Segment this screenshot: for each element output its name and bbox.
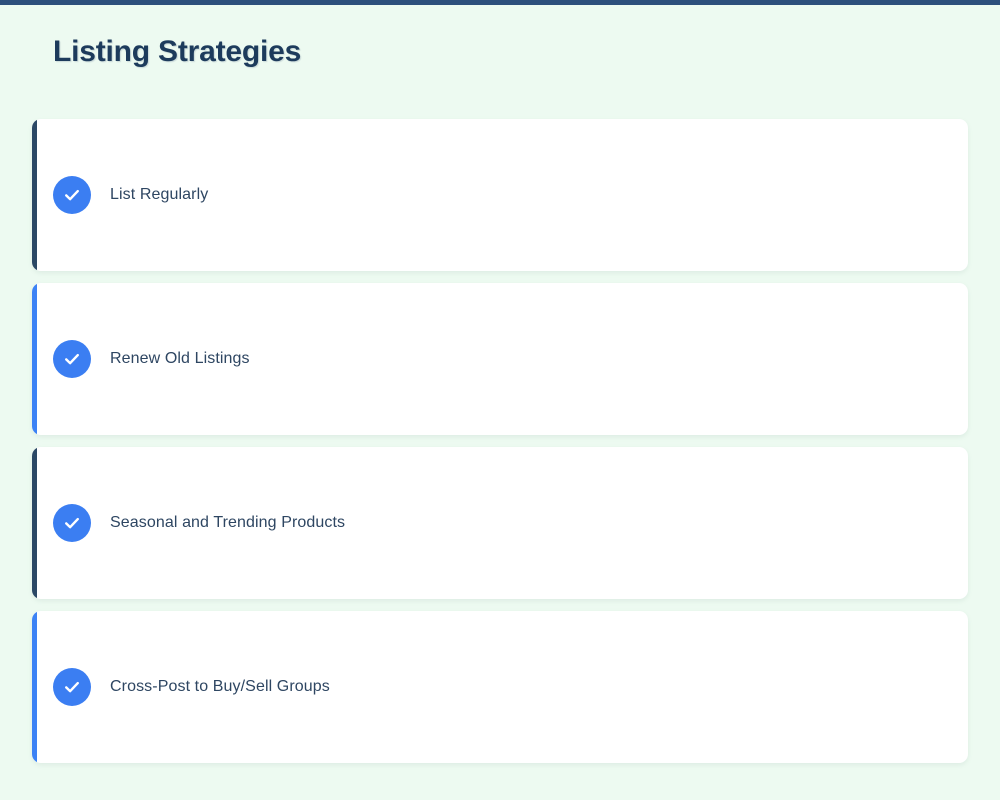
check-circle-icon[interactable] xyxy=(53,504,91,542)
card-accent-bar xyxy=(32,119,37,271)
card-content: List Regularly xyxy=(32,176,208,214)
card-accent-bar xyxy=(32,283,37,435)
check-circle-icon[interactable] xyxy=(53,340,91,378)
page-title: Listing Strategies xyxy=(53,35,301,69)
list-item-label: List Regularly xyxy=(110,186,208,204)
list-item[interactable]: List Regularly xyxy=(32,119,968,271)
card-content: Renew Old Listings xyxy=(32,340,250,378)
list-item[interactable]: Renew Old Listings xyxy=(32,283,968,435)
card-content: Seasonal and Trending Products xyxy=(32,504,345,542)
list-item-label: Seasonal and Trending Products xyxy=(110,514,345,532)
list-item[interactable]: Seasonal and Trending Products xyxy=(32,447,968,599)
strategy-list: List Regularly Renew Old Listings xyxy=(32,119,968,775)
list-item-label: Cross-Post to Buy/Sell Groups xyxy=(110,678,330,696)
card-accent-bar xyxy=(32,447,37,599)
list-item[interactable]: Cross-Post to Buy/Sell Groups xyxy=(32,611,968,763)
card-content: Cross-Post to Buy/Sell Groups xyxy=(32,668,330,706)
check-circle-icon[interactable] xyxy=(53,176,91,214)
card-accent-bar xyxy=(32,611,37,763)
page-container: Listing Strategies List Regularly xyxy=(0,5,1000,800)
check-circle-icon[interactable] xyxy=(53,668,91,706)
list-item-label: Renew Old Listings xyxy=(110,350,250,368)
